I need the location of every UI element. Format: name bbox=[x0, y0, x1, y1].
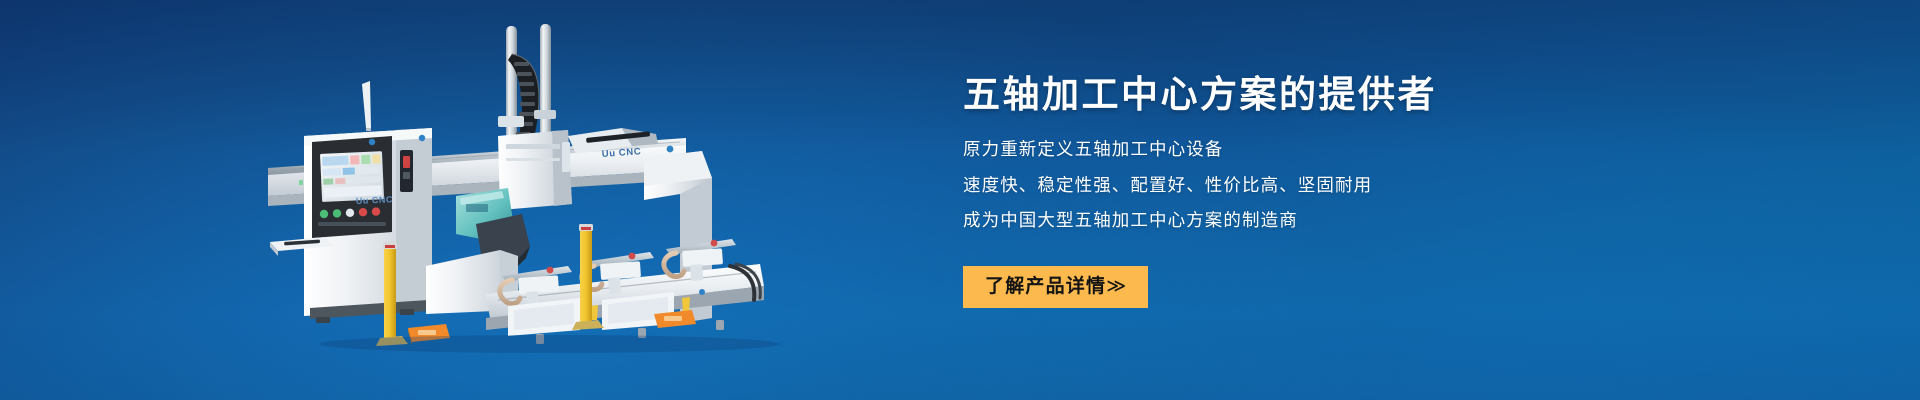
banner-copy: 五轴加工中心方案的提供者 原力重新定义五轴加工中心设备 速度快、稳定性强、配置好… bbox=[963, 72, 1703, 308]
page-title: 五轴加工中心方案的提供者 bbox=[963, 72, 1703, 118]
subtitle-line-2: 速度快、稳定性强、配置好、性价比高、坚固耐用 bbox=[963, 177, 1703, 195]
svg-text:Uu CNC: Uu CNC bbox=[356, 194, 393, 206]
product-image-cnc-machine: Uu CNC bbox=[250, 18, 770, 348]
subtitle-line-1: 原力重新定义五轴加工中心设备 bbox=[963, 141, 1703, 159]
subtitle-list: 原力重新定义五轴加工中心设备 速度快、稳定性强、配置好、性价比高、坚固耐用 成为… bbox=[963, 141, 1703, 230]
subtitle-line-3: 成为中国大型五轴加工中心方案的制造商 bbox=[963, 212, 1703, 230]
learn-more-button[interactable]: 了解产品详情≫ bbox=[963, 266, 1148, 308]
cta-label: 了解产品详情 bbox=[985, 276, 1106, 297]
double-chevron-right-icon: ≫ bbox=[1106, 276, 1126, 297]
hero-banner: Uu CNC bbox=[0, 0, 1920, 400]
